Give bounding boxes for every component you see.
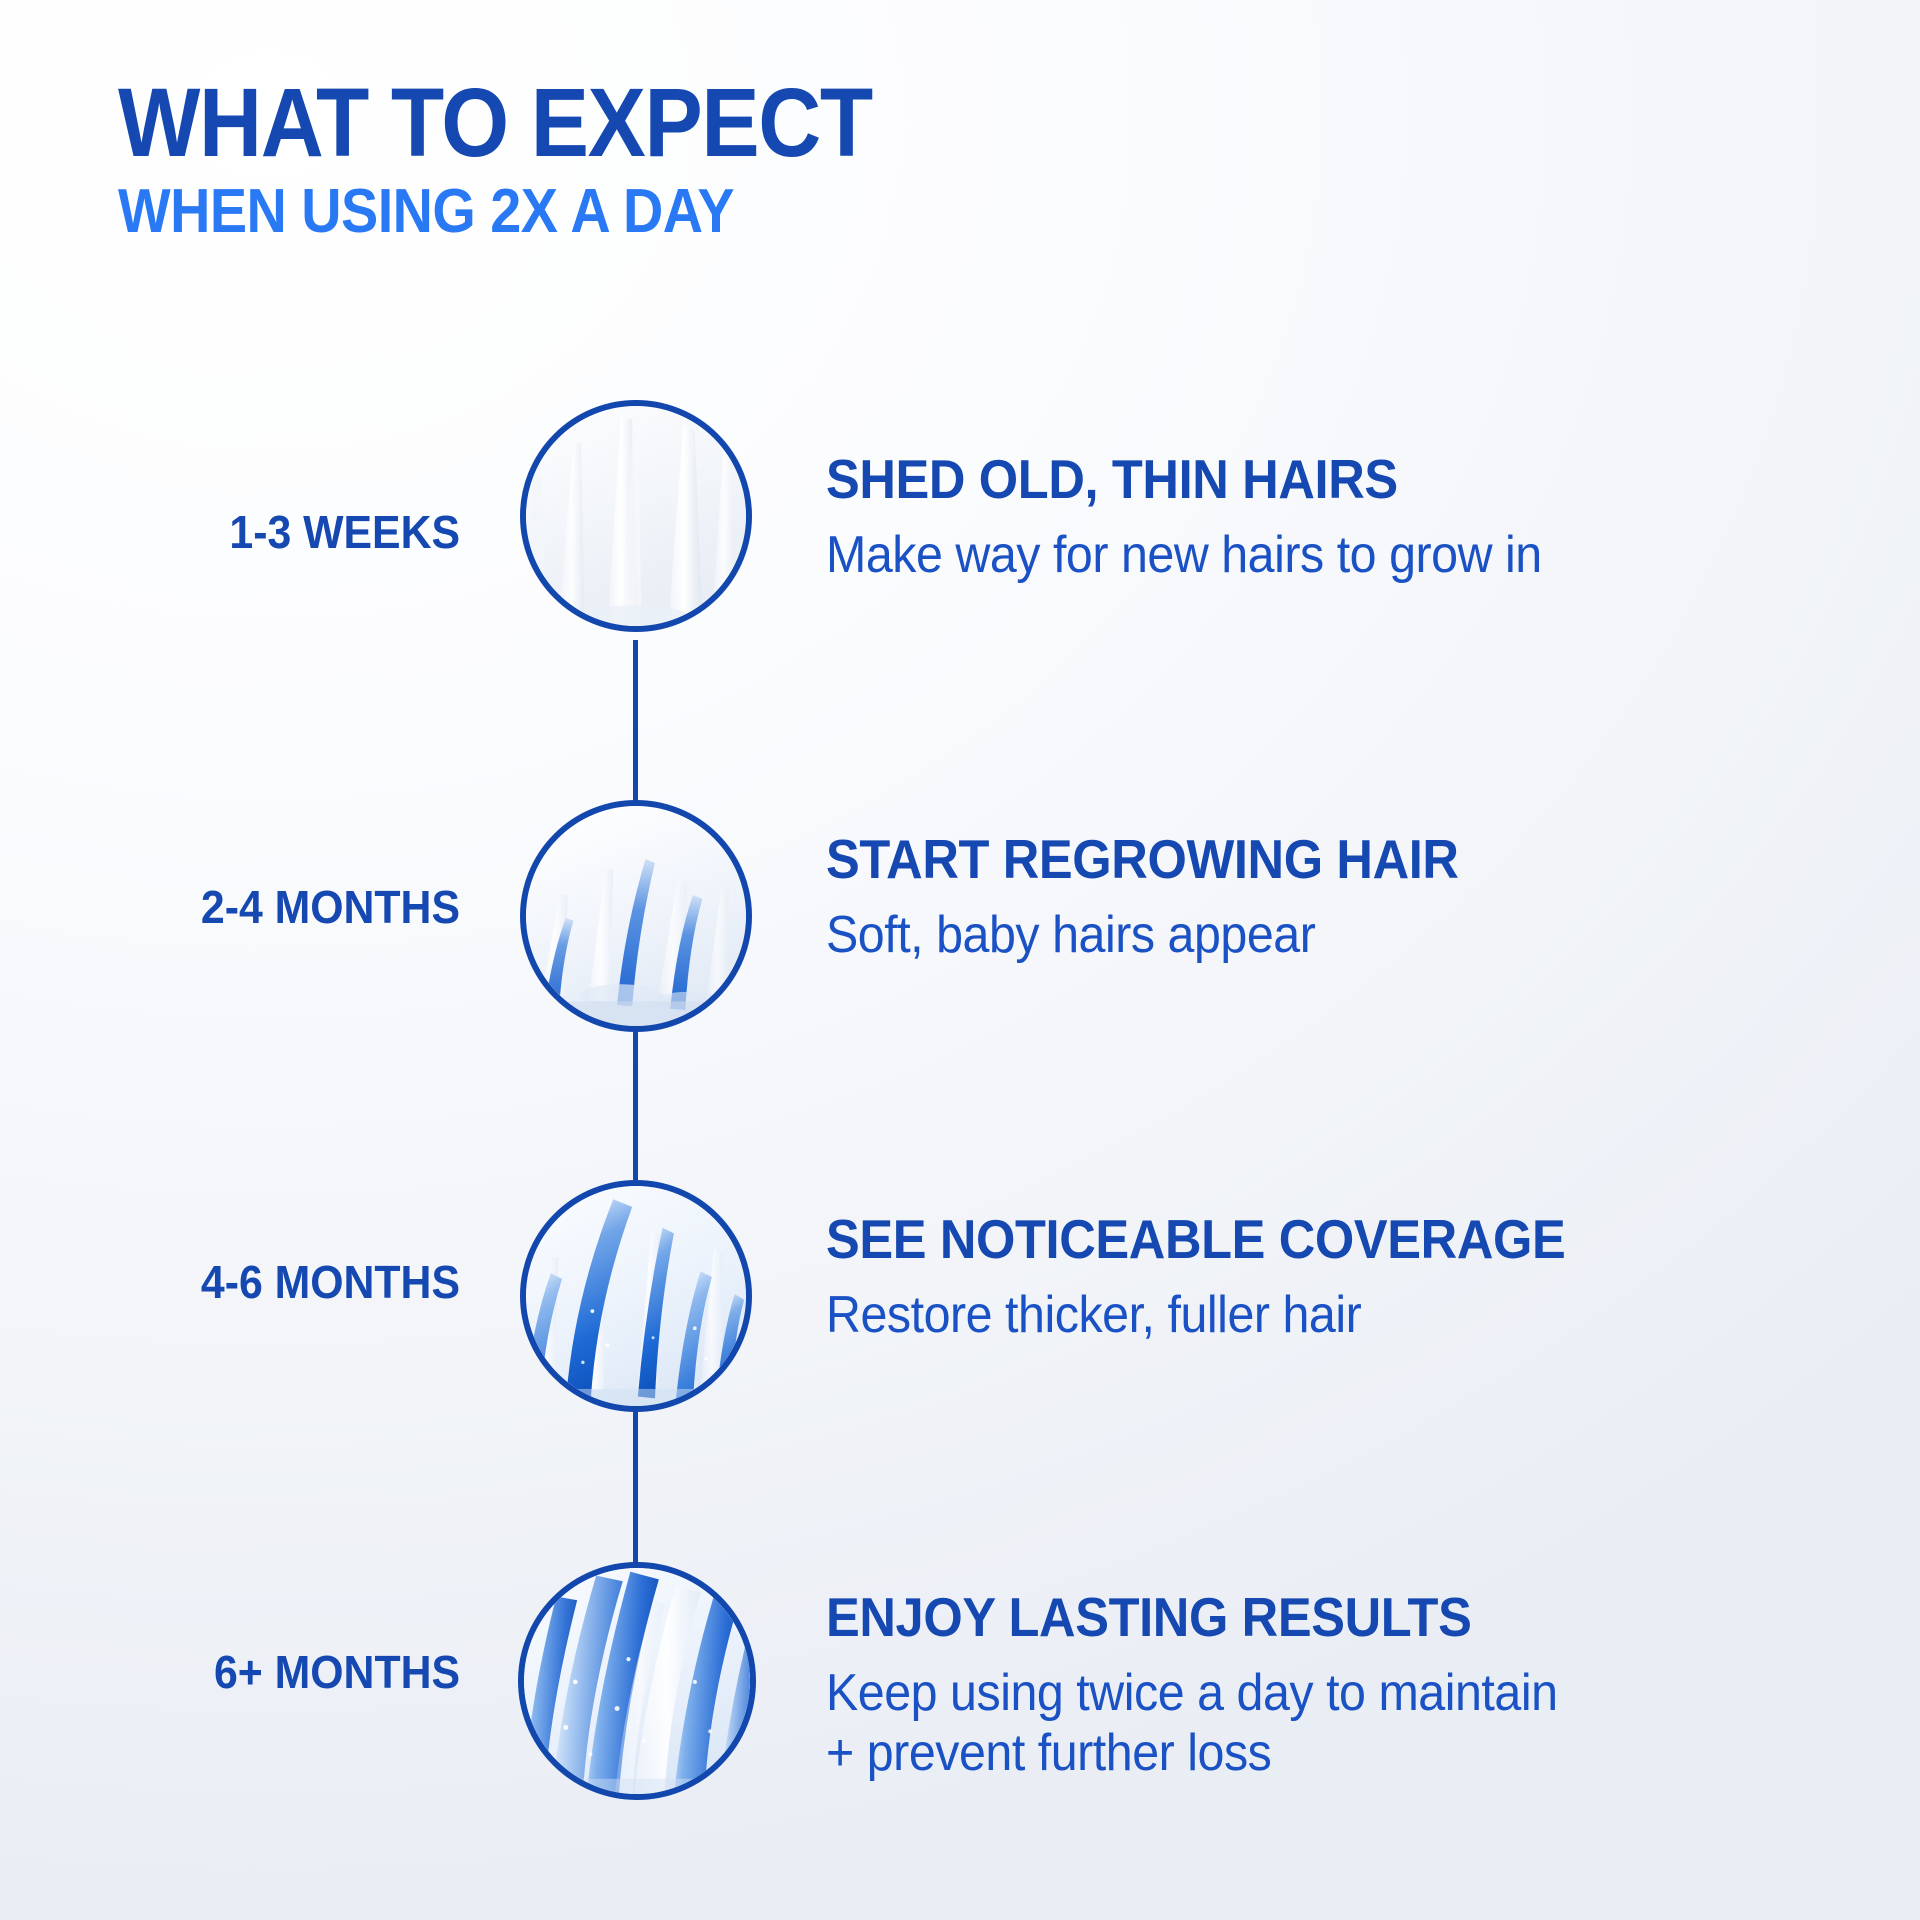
- step-heading-2: START REGROWING HAIR: [826, 832, 1459, 887]
- stage-label-1: 1-3 WEEKS: [125, 505, 460, 559]
- timeline-connector-2-3: [633, 1020, 638, 1180]
- step-copy-3: SEE NOTICEABLE COVERAGE Restore thicker,…: [826, 1212, 1630, 1345]
- stage-label-4: 6+ MONTHS: [97, 1645, 460, 1699]
- hair-strands-thick-closeup-graphic: [524, 1568, 750, 1794]
- step-image-4-inner: [524, 1568, 750, 1794]
- stage-label-3: 4-6 MONTHS: [97, 1255, 460, 1309]
- step-body-2: Soft, baby hairs appear: [826, 905, 1465, 965]
- step-heading-3: SEE NOTICEABLE COVERAGE: [826, 1212, 1565, 1267]
- step-image-3: [520, 1180, 752, 1412]
- step-image-2: [520, 800, 752, 1032]
- hair-strands-fuller-closeup-graphic: [526, 1186, 746, 1406]
- step-heading-1: SHED OLD, THIN HAIRS: [826, 452, 1534, 507]
- step-image-4: [518, 1562, 756, 1800]
- timeline-connector-3-4: [633, 1400, 638, 1565]
- step-body-4: Keep using twice a day to maintain + pre…: [826, 1663, 1558, 1784]
- stage-label-2: 2-4 MONTHS: [107, 880, 460, 934]
- step-copy-4: ENJOY LASTING RESULTS Keep using twice a…: [826, 1590, 1613, 1784]
- step-image-1-inner: [526, 406, 746, 626]
- step-body-4-line-2: + prevent further loss: [826, 1723, 1558, 1783]
- step-body-4-line-1: Keep using twice a day to maintain: [826, 1663, 1558, 1723]
- hair-strands-new-growth-closeup-graphic: [526, 806, 746, 1026]
- step-body-3-line-1: Restore thicker, fuller hair: [826, 1285, 1573, 1345]
- step-copy-1: SHED OLD, THIN HAIRS Make way for new ha…: [826, 452, 1596, 585]
- step-image-1: [520, 400, 752, 632]
- hair-strands-pale-closeup-graphic: [526, 406, 746, 626]
- timeline-connector-1-2: [633, 640, 638, 805]
- step-copy-2: START REGROWING HAIR Soft, baby hairs ap…: [826, 832, 1514, 965]
- step-image-3-inner: [526, 1186, 746, 1406]
- timeline: 1-3 WEEKS: [0, 0, 1920, 1920]
- step-body-1-line-1: Make way for new hairs to grow in: [826, 525, 1542, 585]
- step-body-2-line-1: Soft, baby hairs appear: [826, 905, 1465, 965]
- step-image-2-inner: [526, 806, 746, 1026]
- step-body-3: Restore thicker, fuller hair: [826, 1285, 1573, 1345]
- step-body-1: Make way for new hairs to grow in: [826, 525, 1542, 585]
- step-heading-4: ENJOY LASTING RESULTS: [826, 1590, 1550, 1645]
